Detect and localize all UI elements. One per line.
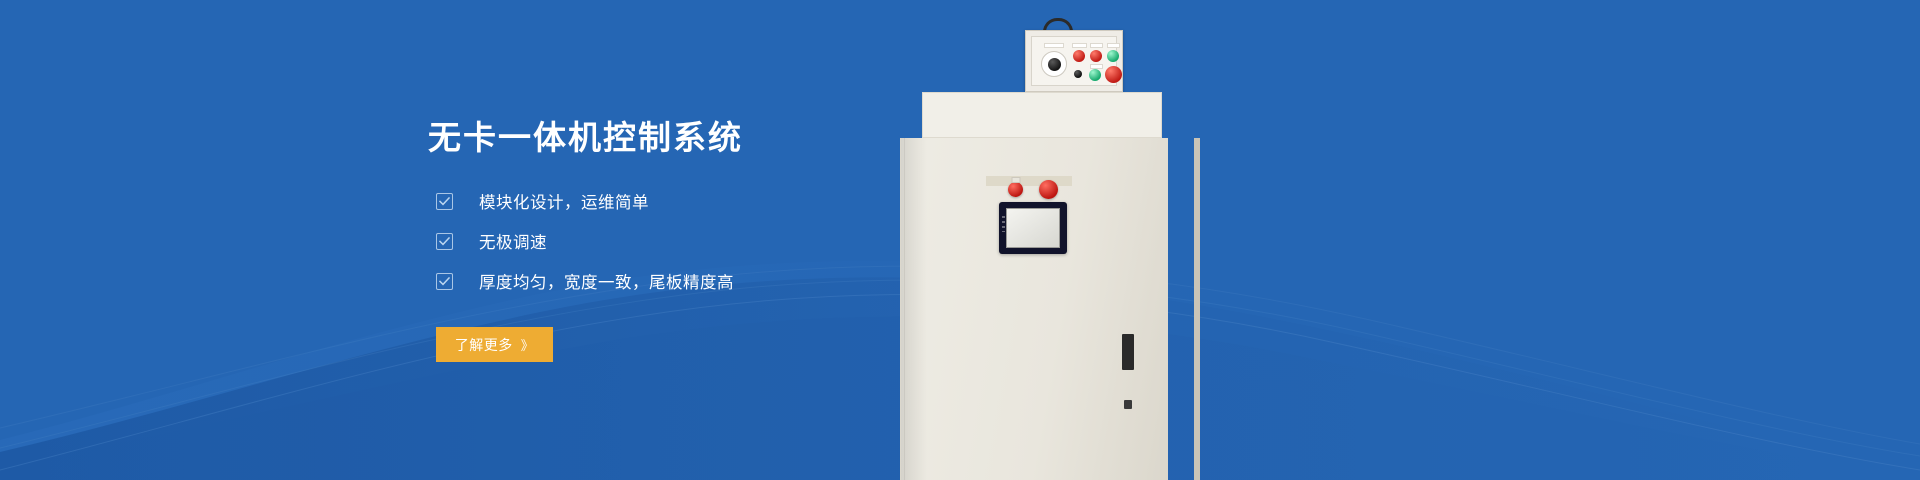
- push-button-black[interactable]: [1074, 70, 1082, 78]
- checkbox-checked-icon: [436, 273, 453, 290]
- emergency-stop-button[interactable]: [1105, 66, 1122, 83]
- cabinet-right-edge: [1194, 138, 1200, 480]
- hero-banner: 无卡一体机控制系统 模块化设计，运维简单 无极调速: [0, 0, 1920, 480]
- indicator-lamp-green-1[interactable]: [1107, 50, 1119, 62]
- lamp-label-tag: [1090, 43, 1103, 48]
- list-item: 厚度均匀，宽度一致，尾板精度高: [436, 269, 1048, 293]
- learn-more-label: 了解更多: [455, 335, 513, 355]
- feature-label: 厚度均匀，宽度一致，尾板精度高: [479, 269, 734, 293]
- list-item: 无极调速: [436, 229, 1048, 253]
- feature-label: 模块化设计，运维简单: [479, 189, 649, 213]
- indicator-lamp-green-2[interactable]: [1089, 69, 1101, 81]
- feature-label: 无极调速: [479, 229, 547, 253]
- checkbox-checked-icon: [436, 193, 453, 210]
- feature-list: 模块化设计，运维简单 无极调速 厚度均匀，宽度一致，尾板精度高: [436, 189, 1048, 309]
- list-item: 模块化设计，运维简单: [436, 189, 1048, 213]
- lamp-label-tag: [1072, 43, 1087, 48]
- indicator-lamp-red-2[interactable]: [1090, 50, 1102, 62]
- page-title: 无卡一体机控制系统: [428, 118, 1048, 158]
- checkbox-checked-icon: [436, 233, 453, 250]
- banner-content: 无卡一体机控制系统 模块化设计，运维简单 无极调速: [428, 0, 1048, 480]
- indicator-lamp-red-1[interactable]: [1073, 50, 1085, 62]
- chevron-right-icon: 》: [521, 335, 535, 354]
- lamp-label-tag: [1107, 43, 1120, 48]
- learn-more-button[interactable]: 了解更多 》: [436, 327, 553, 362]
- cabinet-lock: [1124, 400, 1132, 409]
- cabinet-vent-slot: [1122, 334, 1134, 370]
